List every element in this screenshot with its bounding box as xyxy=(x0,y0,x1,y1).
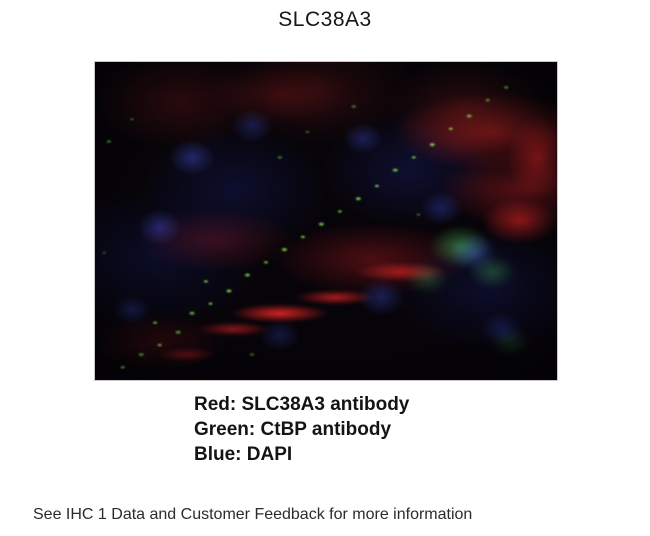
legend-line-red: Red: SLC38A3 antibody xyxy=(194,392,409,417)
micrograph-green-scattered-puncta xyxy=(95,62,557,380)
footer-note: See IHC 1 Data and Customer Feedback for… xyxy=(33,506,472,524)
legend-line-green: Green: CtBP antibody xyxy=(194,417,409,442)
legend-line-blue: Blue: DAPI xyxy=(194,442,409,467)
immunofluorescence-micrograph xyxy=(95,62,557,380)
page-title: SLC38A3 xyxy=(0,8,650,32)
channel-legend: Red: SLC38A3 antibody Green: CtBP antibo… xyxy=(194,392,409,467)
